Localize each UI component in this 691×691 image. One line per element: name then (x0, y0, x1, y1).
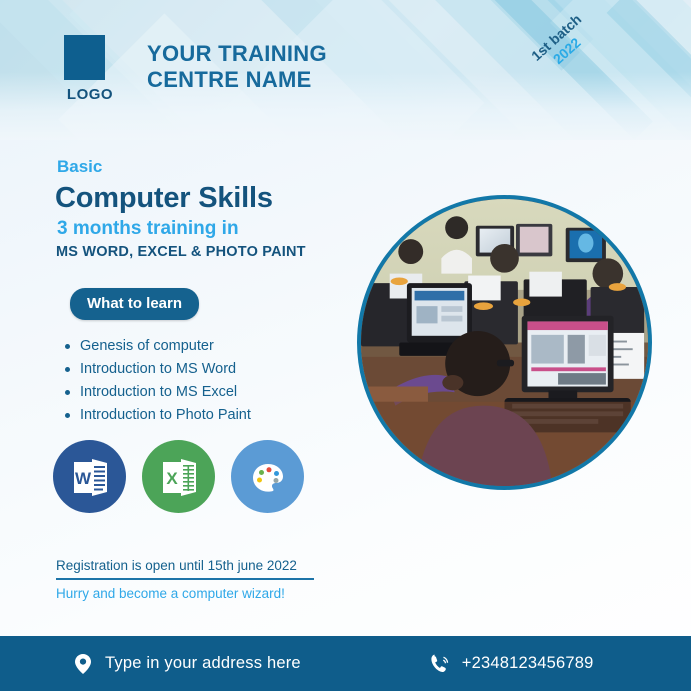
phone-field[interactable]: +2348123456789 (429, 653, 594, 675)
hurry-note: Hurry and become a computer wizard! (56, 586, 285, 601)
centre-name-line-1: YOUR TRAINING (147, 41, 477, 67)
phone-number: +2348123456789 (462, 654, 594, 673)
phone-ringing-icon (429, 653, 451, 675)
poster-header: LOGO YOUR TRAINING CENTRE NAME 1st batch… (0, 0, 691, 140)
course-kicker: Basic (57, 157, 102, 177)
word-app-icon: W (53, 440, 126, 513)
excel-glyph: X (156, 454, 202, 500)
address-field[interactable]: Type in your address here (72, 653, 301, 675)
course-duration: 3 months training in (57, 218, 239, 240)
training-lab-photo (357, 195, 652, 490)
word-glyph: W (67, 454, 113, 500)
svg-text:W: W (74, 469, 91, 488)
logo-label: LOGO (60, 86, 120, 103)
registration-note: Registration is open until 15th june 202… (56, 558, 314, 580)
excel-app-icon: X (142, 440, 215, 513)
curriculum-list: Genesis of computer Introduction to MS W… (62, 338, 251, 430)
page-title: Computer Skills (55, 182, 273, 215)
contact-footer: Type in your address here +2348123456789 (0, 636, 691, 691)
course-list-summary: MS WORD, EXCEL & PHOTO PAINT (56, 244, 306, 260)
logo-placeholder-icon (64, 35, 105, 80)
list-item: Introduction to MS Word (62, 361, 251, 378)
address-text: Type in your address here (105, 654, 301, 673)
centre-name-line-2: CENTRE NAME (147, 67, 477, 93)
list-item: Introduction to MS Excel (62, 384, 251, 401)
paint-app-icon (231, 440, 304, 513)
centre-name: YOUR TRAINING CENTRE NAME (147, 41, 477, 93)
software-icons: W X (53, 440, 304, 513)
flyer-poster: LOGO YOUR TRAINING CENTRE NAME 1st batch… (0, 0, 691, 691)
list-item: Introduction to Photo Paint (62, 407, 251, 424)
lab-photo-illustration (361, 199, 648, 486)
location-pin-icon (72, 653, 94, 675)
svg-text:X: X (166, 469, 178, 488)
what-to-learn-button[interactable]: What to learn (70, 288, 199, 320)
list-item: Genesis of computer (62, 338, 251, 355)
paint-palette-glyph (245, 454, 291, 500)
